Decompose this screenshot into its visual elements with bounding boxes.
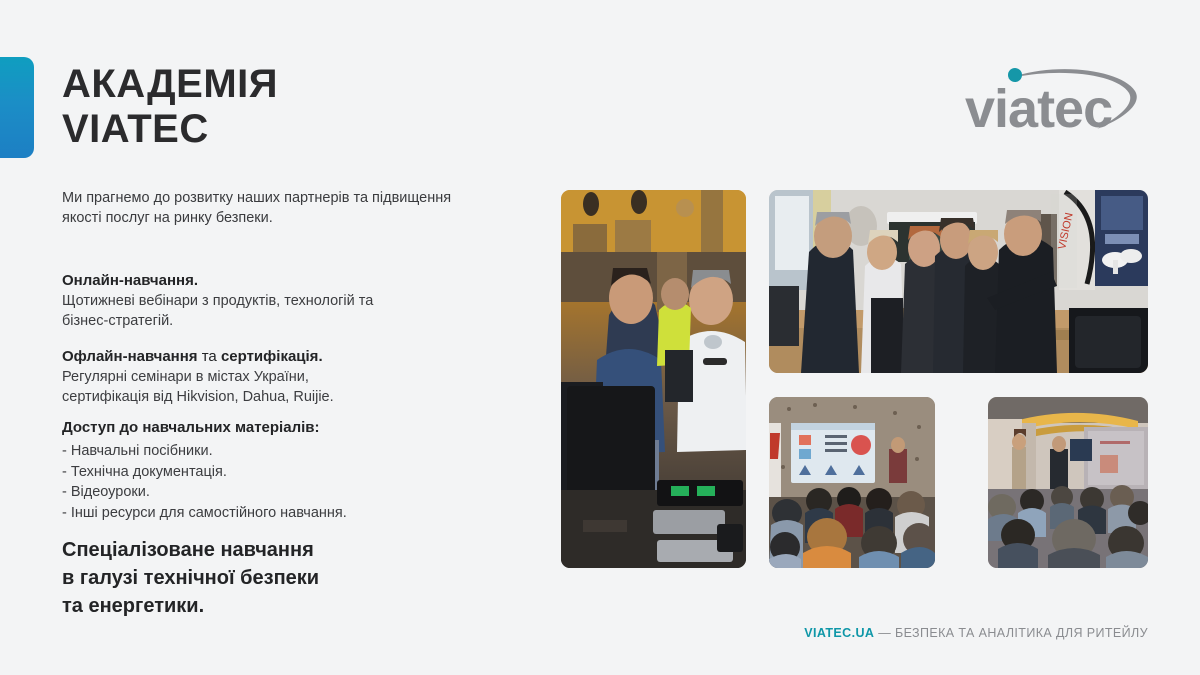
list-item: - Навчальні посібники. — [62, 441, 514, 462]
block-online-body: Щотижневі вебінари з продуктів, технолог… — [62, 291, 514, 331]
page-title-line-1: АКАДЕМІЯ — [62, 62, 582, 107]
intro-line-2: якості послуг на ринку безпеки. — [62, 208, 514, 228]
closing-statement: Спеціалізоване навчання в галузі технічн… — [62, 536, 522, 620]
page-title: АКАДЕМІЯ VIATEC — [62, 62, 582, 152]
photo-conference-hall — [988, 397, 1148, 568]
block-online-body-line-1: Щотижневі вебінари з продуктів, технолог… — [62, 291, 514, 311]
list-item: - Відеоуроки. — [62, 482, 514, 503]
slide: АКАДЕМІЯ VIATEC viatec Ми прагнемо до ро… — [0, 0, 1200, 675]
photo-seminar-audience — [769, 397, 935, 568]
list-item: - Інші ресурси для самостійного навчання… — [62, 503, 514, 524]
block-offline-heading-regular: та — [198, 348, 221, 365]
block-offline-body: Регулярні семінари в містах України, сер… — [62, 367, 514, 407]
block-offline-heading: Офлайн-навчання та сертифікація. — [62, 346, 514, 367]
footer-tagline: — БЕЗПЕКА ТА АНАЛІТИКА ДЛЯ РИТЕЙЛУ — [878, 626, 1148, 640]
closing-line-2: в галузі технічної безпеки — [62, 564, 522, 592]
closing-line-1: Спеціалізоване навчання — [62, 536, 522, 564]
block-online-training: Онлайн-навчання. Щотижневі вебінари з пр… — [62, 270, 514, 331]
list-item: - Технічна документація. — [62, 462, 514, 483]
block-online-heading: Онлайн-навчання. — [62, 270, 514, 291]
block-offline-heading-bold-1: Офлайн-навчання — [62, 348, 198, 365]
block-offline-body-line-2: сертифікація від Hikvision, Dahua, Ruiji… — [62, 387, 514, 407]
materials-list: - Навчальні посібники. - Технічна докуме… — [62, 441, 514, 523]
accent-bar — [0, 57, 34, 158]
intro-paragraph: Ми прагнемо до розвитку наших партнерів … — [62, 188, 514, 228]
intro-line-1: Ми прагнемо до розвитку наших партнерів … — [62, 188, 514, 208]
viatec-logo: viatec — [963, 57, 1148, 139]
photo-equipment-demo — [561, 190, 746, 568]
footer-brand: VIATEC.UA — [804, 626, 874, 640]
block-learning-materials: Доступ до навчальних матеріалів: - Навча… — [62, 417, 514, 523]
closing-line-3: та енергетики. — [62, 592, 522, 620]
block-offline-heading-bold-2: сертифікація. — [221, 348, 323, 365]
logo-wordmark: viatec — [965, 79, 1112, 139]
block-online-body-line-2: бізнес-стратегій. — [62, 311, 514, 331]
photo-classroom-group: VISION — [769, 190, 1148, 373]
block-offline-training: Офлайн-навчання та сертифікація. Регуляр… — [62, 346, 514, 407]
block-offline-body-line-1: Регулярні семінари в містах України, — [62, 367, 514, 387]
page-title-line-2: VIATEC — [62, 107, 582, 152]
content-column: Ми прагнемо до розвитку наших партнерів … — [62, 188, 514, 228]
footer: VIATEC.UA — БЕЗПЕКА ТА АНАЛІТИКА ДЛЯ РИТ… — [804, 626, 1148, 640]
block-materials-heading: Доступ до навчальних матеріалів: — [62, 417, 514, 438]
